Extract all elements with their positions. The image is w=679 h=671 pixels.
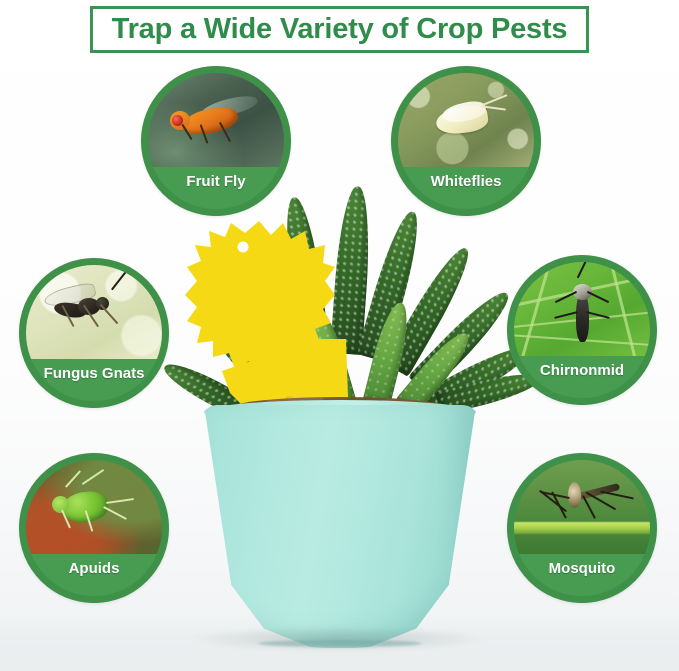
badge-label-band: Fungus Gnats <box>19 359 169 408</box>
fungus-gnat-icon <box>26 265 162 359</box>
pest-label: Whiteflies <box>431 173 502 190</box>
pest-badge-apuids[interactable]: Apuids <box>19 453 169 603</box>
pest-label: Apuids <box>69 560 120 577</box>
infographic-canvas: Trap a Wide Variety of Crop Pests <box>0 0 679 671</box>
aphid-icon <box>26 460 162 554</box>
hang-hole <box>238 242 249 253</box>
pest-label: Chirnonmid <box>540 362 624 379</box>
mosquito-icon <box>514 460 650 554</box>
badge-label-band: Mosquito <box>507 554 657 603</box>
chironomid-icon <box>514 262 650 356</box>
whitefly-icon <box>398 73 534 167</box>
badge-label-band: Chirnonmid <box>507 356 657 405</box>
pest-badge-whiteflies[interactable]: Whiteflies <box>391 66 541 216</box>
pest-badge-fruit-fly[interactable]: Fruit Fly <box>141 66 291 216</box>
pot-shadow <box>188 626 488 652</box>
badge-label-band: Apuids <box>19 554 169 603</box>
badge-label-band: Whiteflies <box>391 167 541 216</box>
pest-badge-fungus-gnats[interactable]: Fungus Gnats <box>19 258 169 408</box>
badge-label-band: Fruit Fly <box>141 167 291 216</box>
fruit-fly-icon <box>148 73 284 167</box>
pest-label: Mosquito <box>549 560 616 577</box>
pest-badge-chirnonmid[interactable]: Chirnonmid <box>507 255 657 405</box>
pest-label: Fungus Gnats <box>44 365 145 382</box>
pest-badge-mosquito[interactable]: Mosquito <box>507 453 657 603</box>
pest-label: Fruit Fly <box>186 173 245 190</box>
